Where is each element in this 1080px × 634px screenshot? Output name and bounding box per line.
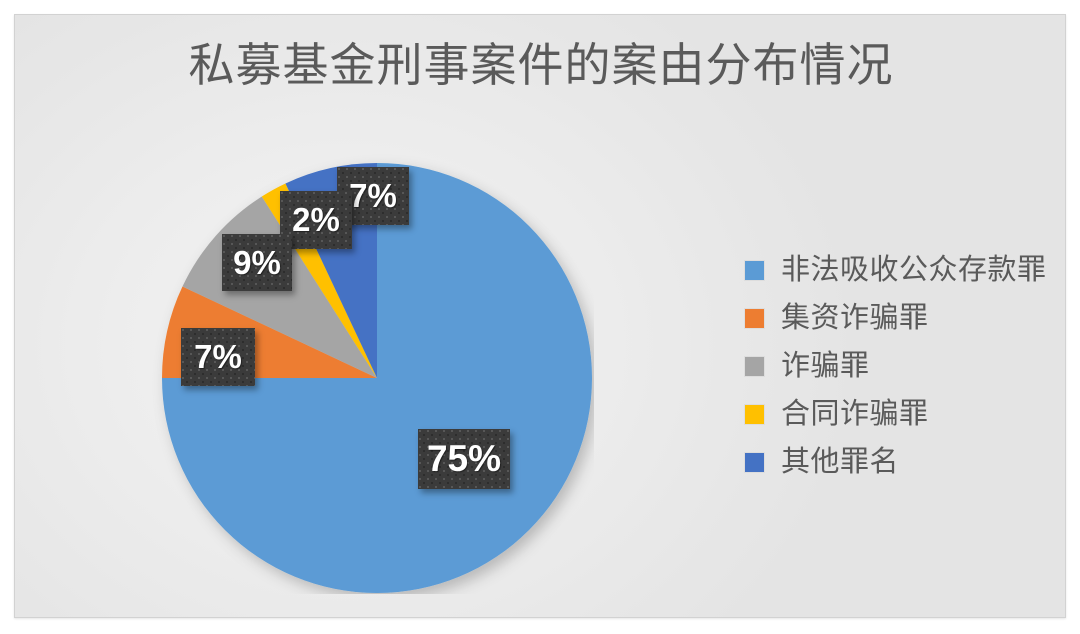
legend-item-label: 其他罪名 [781,448,899,477]
legend-color-swatch [745,309,764,328]
chart-panel: 私募基金刑事案件的案由分布情况 7% 2% 9% 7% 75% 非法吸收公众存款… [14,14,1066,618]
legend-color-swatch [745,405,764,424]
legend-item[interactable]: 集资诈骗罪 [731,294,1061,342]
data-label-illegal-deposits: 75% [418,429,510,489]
legend-color-swatch [745,261,764,280]
legend-item-label: 集资诈骗罪 [781,304,929,333]
chart-page: 私募基金刑事案件的案由分布情况 7% 2% 9% 7% 75% 非法吸收公众存款… [0,0,1080,634]
data-label-fraud: 9% [222,234,292,291]
legend-item[interactable]: 非法吸收公众存款罪 [731,246,1061,294]
legend-item[interactable]: 其他罪名 [731,438,1061,486]
data-label-fundraising-fraud: 7% [181,328,255,386]
legend-color-swatch [745,453,764,472]
chart-legend: 非法吸收公众存款罪集资诈骗罪诈骗罪合同诈骗罪其他罪名 [731,246,1061,486]
legend-color-swatch [745,357,764,376]
legend-item-label: 诈骗罪 [781,352,870,381]
chart-title: 私募基金刑事案件的案由分布情况 [15,41,1067,91]
legend-item[interactable]: 合同诈骗罪 [731,390,1061,438]
legend-item-label: 合同诈骗罪 [781,400,929,429]
legend-item-label: 非法吸收公众存款罪 [781,256,1047,285]
legend-item[interactable]: 诈骗罪 [731,342,1061,390]
